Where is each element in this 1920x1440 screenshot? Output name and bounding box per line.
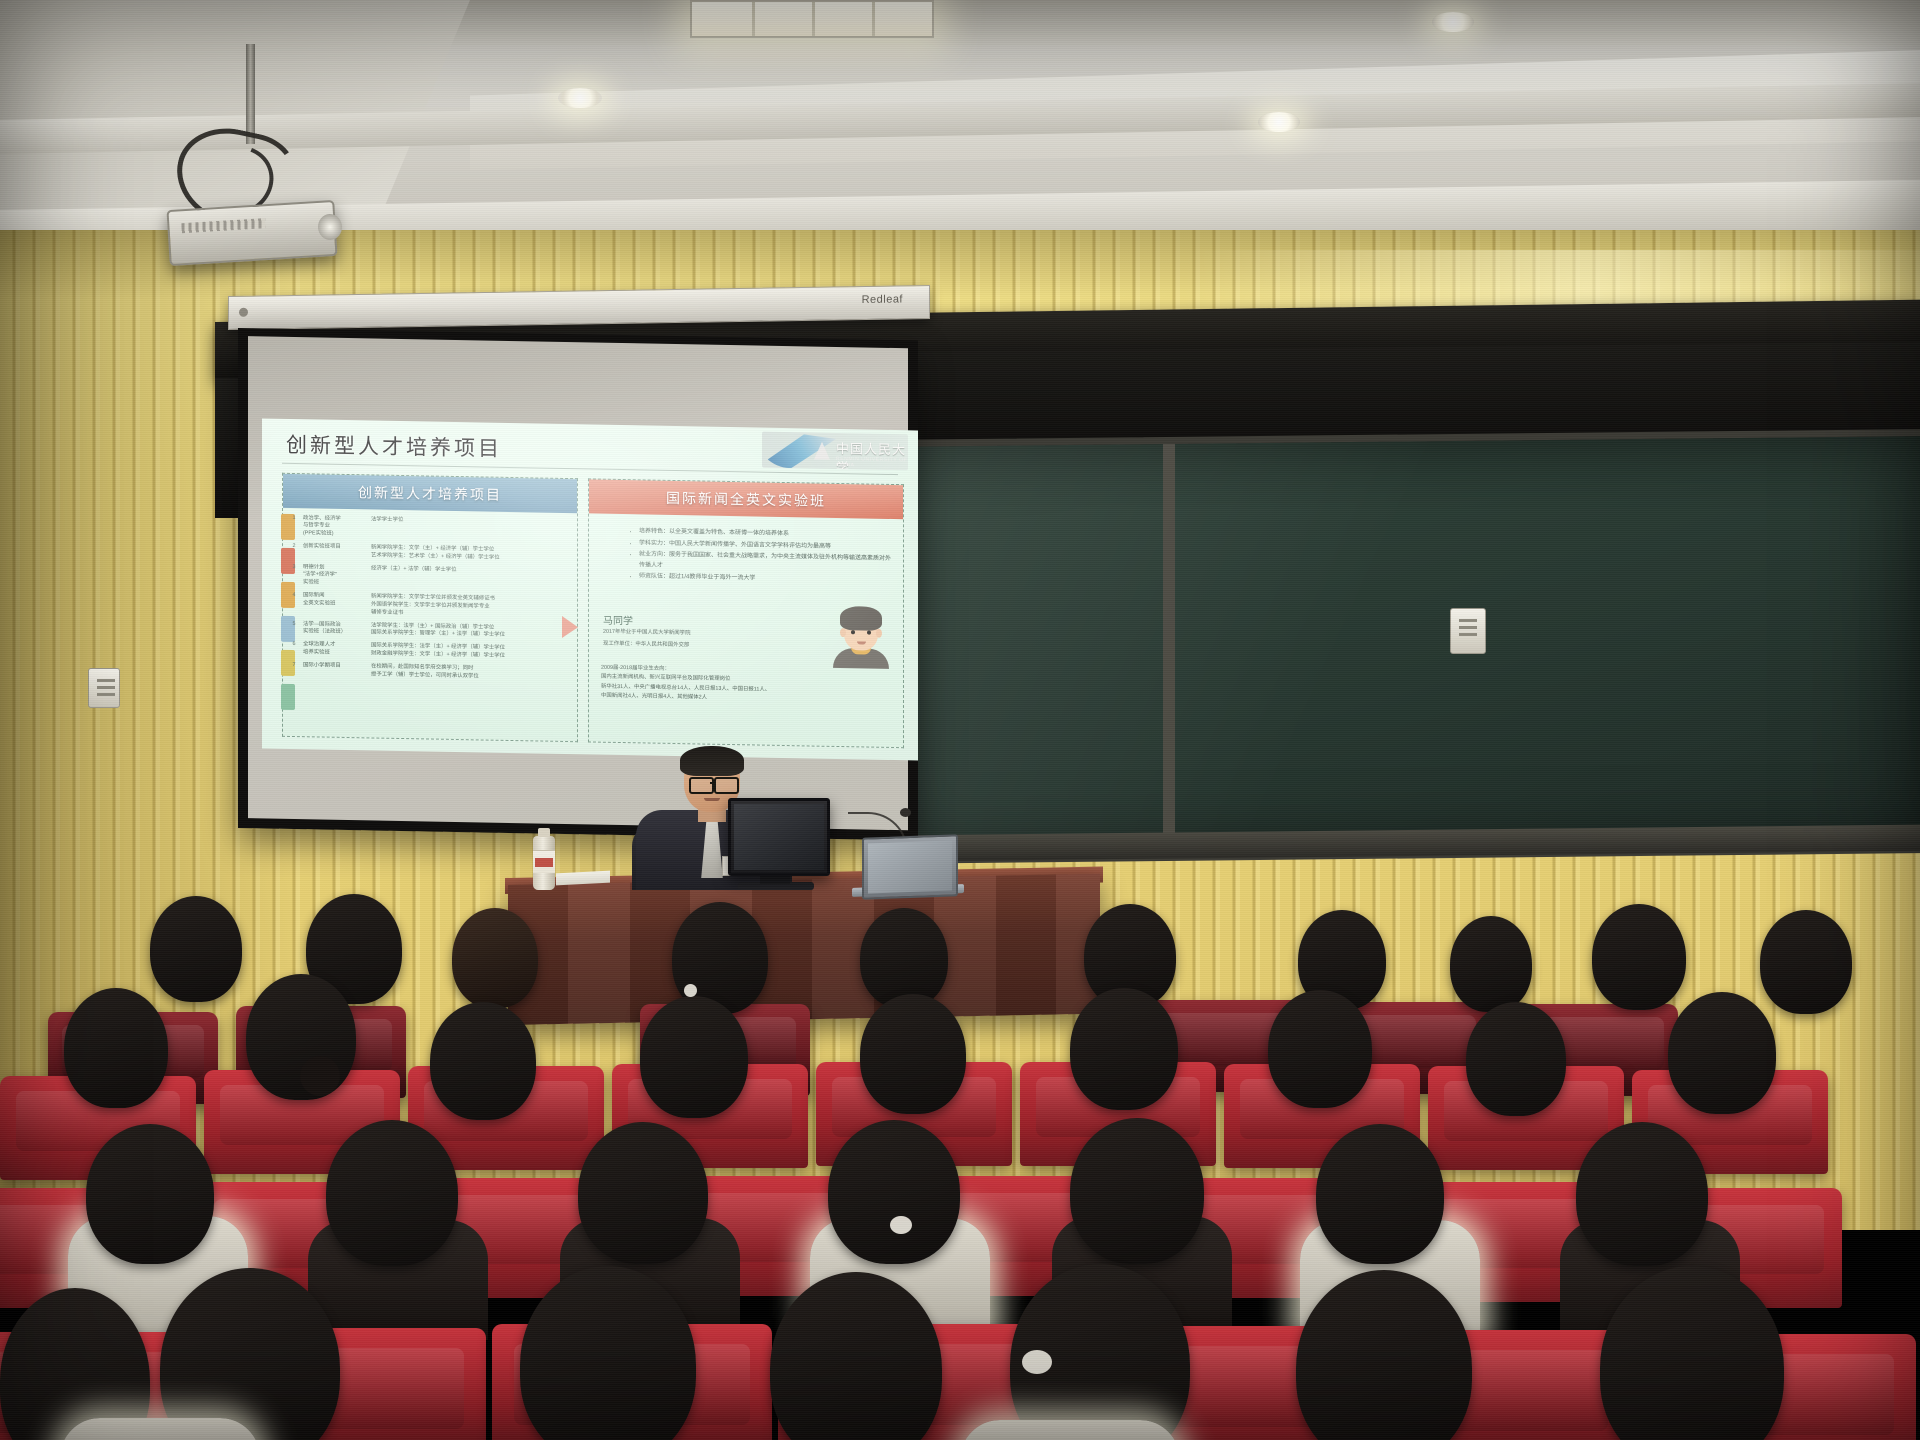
audience-head: [640, 996, 748, 1118]
hair-tie: [684, 984, 697, 997]
screen-surface: 创新型人才培养项目 中国人民大学 RENMIN UNIVERSITY OF CH…: [248, 336, 908, 830]
speaker-glasses-left-lens: [689, 777, 714, 794]
slide-title: 创新型人才培养项目: [286, 429, 502, 463]
audience-head: [860, 908, 948, 1008]
avatar-eye-right: [867, 631, 871, 635]
programs-table: 1 政治学、经济学 与哲学专业 (PPE实验班) 法学学士学位 2 创新实验班项…: [289, 512, 571, 685]
chalkboard-sheen: [885, 436, 1920, 857]
left-panel: 创新型人才培养项目 1 政治学、经济学 与哲学专业 (PPE实验班) 法学学士学…: [282, 473, 578, 742]
podium-front-panels: [508, 874, 1100, 1025]
projection-screen: 创新型人才培养项目 中国人民大学 RENMIN UNIVERSITY OF CH…: [238, 328, 918, 840]
ceiling-light-1: [558, 88, 602, 108]
left-panel-header: 创新型人才培养项目: [283, 474, 577, 513]
student-avatar-icon: [831, 604, 891, 667]
row-degree: 法学院学生：法学（主）+ 国际政治（辅）学士学位 国际关系学院学生：管理学（主）…: [371, 622, 571, 641]
audience-area: [0, 1020, 1920, 1440]
audience-head: [1070, 1118, 1204, 1264]
lecture-hall-photo: Redleaf 创新型人才培养项目 中国人民大学 RENMIN UNIVERSI…: [0, 0, 1920, 1440]
projector-body: [166, 200, 337, 266]
row-degree: 经济学（主）+ 法学（辅）学士学位: [371, 565, 571, 592]
chalkboard: [878, 429, 1920, 864]
row-number: 2: [289, 543, 299, 559]
row-program: 国际新闻 全英文实验班: [303, 592, 367, 617]
audience-head: [1450, 916, 1532, 1012]
student-name: 马同学: [603, 612, 633, 628]
ceiling-light-4: [1258, 112, 1300, 132]
audience-head: [1316, 1124, 1444, 1264]
speaker-glasses-bridge: [710, 782, 715, 784]
audience-shoulders: [60, 1418, 260, 1440]
row-program: 创新实验班项目: [303, 543, 367, 560]
audience-head: [430, 1002, 536, 1120]
audience-head: [1592, 904, 1686, 1010]
speaker-glasses-right-lens: [714, 777, 739, 794]
row-degree: 在校期间，赴国际知名学府交换学习；同时 授予工学（辅）学士学位，可同时承认双学位: [371, 663, 571, 682]
avatar-ear-right: [876, 629, 882, 638]
ceiling-light-6: [1432, 12, 1474, 32]
row-program: 法学—­国际政治 实验班（法政班）: [303, 621, 367, 638]
right-panel-bullets: 培养特色：以全英文覆盖为特色、本研博一体的培养体系 学科实力：中国人民大学新闻传…: [599, 526, 895, 588]
projector-mount-rod: [246, 44, 255, 144]
avatar-ear-left: [840, 628, 846, 637]
microphone-head: [900, 808, 911, 817]
row-degree: 新闻学院学生：文学（主）+ 经济学（辅）学士学位 艺术学院学生：艺术学（主）+ …: [371, 544, 571, 563]
audience-hair-bun: [300, 1056, 340, 1096]
graduate-stats: 2009届-2018届毕业生去向： 国内主流新闻机构、新兴互联网平台及国际化管理…: [601, 664, 893, 707]
screen-brand-label: Redleaf: [862, 293, 903, 306]
audience-head: [578, 1122, 708, 1264]
right-panel: 国际新闻全英文实验班 培养特色：以全英文覆盖为特色、本研博一体的培养体系 学科实…: [588, 478, 904, 748]
row-program: 国际小学期项目: [303, 662, 367, 679]
desktop-monitor[interactable]: [728, 798, 830, 876]
water-bottle: [533, 828, 555, 890]
audience-head: [86, 1124, 214, 1264]
student-meta-line-1: 2017年毕业于中国人民大学新闻学院: [603, 628, 690, 638]
screen-case-dot: [239, 308, 248, 317]
logo-subtitle: RENMIN UNIVERSITY OF CHINA: [836, 456, 908, 469]
row-number: 1: [289, 514, 299, 538]
row-program: 明德计划 "法学+经济学" 实验班: [303, 564, 367, 589]
row-number: 3: [289, 564, 299, 588]
avatar-eye-left: [851, 630, 855, 634]
row-program: 全球治理人才 培养实验班: [303, 641, 367, 658]
row-number: 5: [289, 621, 299, 637]
university-logo: 中国人民大学 RENMIN UNIVERSITY OF CHINA: [762, 432, 908, 471]
row-degree: 法学学士学位: [371, 516, 571, 543]
audience-head: [64, 988, 168, 1108]
audience-head: [1576, 1122, 1708, 1266]
row-number: 6: [289, 641, 299, 657]
audience-head: [1668, 992, 1776, 1114]
bottle-label-accent: [535, 858, 553, 867]
audience-head: [1760, 910, 1852, 1014]
row-degree: 新闻学院学生：文学学士学位并颁发全英文辅修证书 外国语学院学生：文学学士学位并颁…: [371, 594, 571, 621]
wall-socket-right: [1450, 608, 1486, 654]
audience-shoulders: [960, 1420, 1180, 1440]
right-panel-header: 国际新闻全英文实验班: [589, 479, 903, 519]
ceiling-panel-light: [690, 0, 934, 38]
audience-head: [452, 908, 538, 1008]
avatar-hair: [840, 606, 882, 631]
hair-tie: [1022, 1350, 1052, 1374]
laptop-screen[interactable]: [868, 841, 952, 894]
student-meta-line-2: 现工作单位：中华人民共和国外交部: [603, 640, 689, 650]
podium: [508, 874, 1100, 1025]
audience-head: [150, 896, 242, 1002]
projected-slide: 创新型人才培养项目 中国人民大学 RENMIN UNIVERSITY OF CH…: [262, 418, 918, 760]
row-program: 政治学、经济学 与哲学专业 (PPE实验班): [303, 515, 367, 540]
audience-head: [326, 1120, 458, 1266]
wall-socket-left: [88, 668, 120, 708]
speaker-hair: [680, 746, 744, 776]
row-degree: 国际关系学院学生：法学（主）+ 经济学（辅）学士学位 财政金融学院学生：文学（主…: [371, 643, 571, 662]
bottle-cap: [538, 828, 550, 837]
hair-tie: [890, 1216, 912, 1234]
audience-head: [1268, 990, 1372, 1108]
connector-arrow-icon: [562, 616, 578, 638]
monitor-screen[interactable]: [734, 804, 824, 870]
speaker-mouth: [704, 798, 720, 801]
laptop[interactable]: [862, 834, 958, 899]
audience-head: [1466, 1002, 1566, 1116]
audience-head: [1070, 988, 1178, 1110]
row-number: 4: [289, 592, 299, 616]
audience-head: [828, 1120, 960, 1264]
row-number: 7: [289, 662, 299, 678]
audience-head: [860, 994, 966, 1114]
panel-tab-6: [281, 684, 295, 710]
table-row: 7 国际小学期项目 在校期间，赴国际知名学府交换学习；同时 授予工学（辅）学士学…: [289, 659, 571, 685]
